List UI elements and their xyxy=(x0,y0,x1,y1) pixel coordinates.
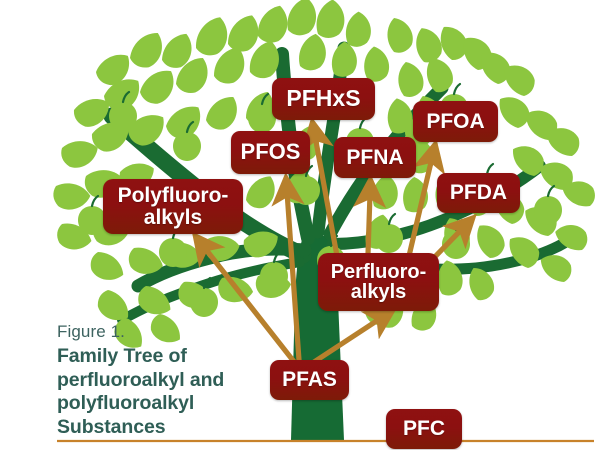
figure-number: Figure 1. xyxy=(57,322,297,342)
label-pfhxs[interactable]: PFHxS xyxy=(272,78,375,120)
label-pfda[interactable]: PFDA xyxy=(437,173,520,213)
label-pfc[interactable]: PFC xyxy=(386,409,462,449)
figure-title-line-2: perfluoroalkyl and xyxy=(57,369,297,393)
figure-caption: Figure 1. Family Tree of perfluoroalkyl … xyxy=(57,322,297,439)
figure-canvas: Figure 1. Family Tree of perfluoroalkyl … xyxy=(0,0,614,450)
label-pfna[interactable]: PFNA xyxy=(334,137,416,178)
label-polyfluoroalkyls[interactable]: Polyfluoro- alkyls xyxy=(103,179,243,234)
figure-title-line-4: Substances xyxy=(57,416,297,440)
label-pfas[interactable]: PFAS xyxy=(270,360,349,400)
arrow-perfluoroalkyls-to-pfna xyxy=(368,194,370,254)
figure-title: Family Tree of perfluoroalkyl and polyfl… xyxy=(57,345,297,439)
label-pfoa[interactable]: PFOA xyxy=(413,101,498,142)
label-polyfluoroalkyls-line-1: Polyfluoro- xyxy=(118,185,229,206)
label-perfluoroalkyls-line-1: Perfluoro- xyxy=(331,262,427,282)
label-polyfluoroalkyls-line-2: alkyls xyxy=(118,207,229,228)
figure-title-line-3: polyfluoroalkyl xyxy=(57,392,297,416)
label-pfos[interactable]: PFOS xyxy=(231,131,310,174)
figure-title-line-1: Family Tree of xyxy=(57,345,297,369)
label-perfluoroalkyls[interactable]: Perfluoro- alkyls xyxy=(318,253,439,311)
label-perfluoroalkyls-line-2: alkyls xyxy=(331,282,427,302)
